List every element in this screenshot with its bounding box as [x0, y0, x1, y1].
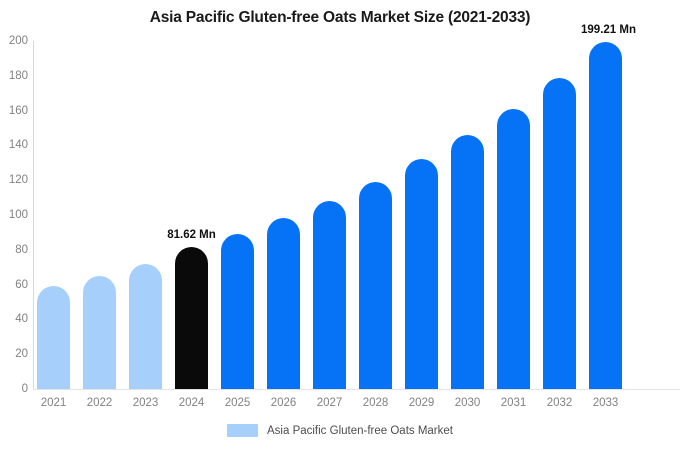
bar-2025[interactable]: [221, 234, 254, 389]
page-title: Asia Pacific Gluten-free Oats Market Siz…: [0, 9, 680, 27]
y-axis-tick-20: 20: [0, 348, 28, 360]
bar-group-2023[interactable]: [129, 41, 162, 389]
x-axis-tick-2030: 2030: [445, 397, 491, 409]
x-axis-tick-2023: 2023: [123, 397, 169, 409]
x-axis-tick-2025: 2025: [215, 397, 261, 409]
bar-2022[interactable]: [83, 276, 116, 389]
x-axis-tick-2021: 2021: [31, 397, 77, 409]
bar-group-2033[interactable]: 199.21 Mn: [589, 41, 622, 389]
legend-item-label: Asia Pacific Gluten-free Oats Market: [267, 425, 453, 437]
bar-2023[interactable]: [129, 264, 162, 389]
x-axis-tick-2032: 2032: [537, 397, 583, 409]
y-axis-tick-120: 120: [0, 174, 28, 186]
y-axis-tick-80: 80: [0, 244, 28, 256]
bar-2031[interactable]: [497, 109, 530, 389]
y-axis-tick-60: 60: [0, 279, 28, 291]
bar-group-2026[interactable]: [267, 41, 300, 389]
bar-2028[interactable]: [359, 182, 392, 389]
bar-group-2021[interactable]: [37, 41, 70, 389]
bar-2030[interactable]: [451, 135, 484, 389]
y-axis-tick-140: 140: [0, 139, 28, 151]
bar-group-2032[interactable]: [543, 41, 576, 389]
bar-value-label-2024: 81.62 Mn: [167, 229, 216, 241]
y-axis-tick-180: 180: [0, 70, 28, 82]
chart-legend: Asia Pacific Gluten-free Oats Market: [0, 424, 680, 437]
bar-2033[interactable]: [589, 42, 622, 389]
y-axis-tick-200: 200: [0, 35, 28, 47]
bar-2027[interactable]: [313, 201, 346, 389]
bar-2029[interactable]: [405, 159, 438, 389]
bar-2026[interactable]: [267, 218, 300, 389]
x-axis-tick-2027: 2027: [307, 397, 353, 409]
y-axis-tick-160: 160: [0, 105, 28, 117]
chart-container: Asia Pacific Gluten-free Oats Market Siz…: [0, 0, 680, 450]
y-axis-line: [33, 41, 34, 389]
x-axis-tick-2024: 2024: [169, 397, 215, 409]
x-axis-tick-2033: 2033: [583, 397, 629, 409]
x-axis-tick-2026: 2026: [261, 397, 307, 409]
bar-group-2027[interactable]: [313, 41, 346, 389]
bar-group-2024[interactable]: 81.62 Mn: [175, 41, 208, 389]
y-axis-tick-40: 40: [0, 313, 28, 325]
bar-group-2025[interactable]: [221, 41, 254, 389]
bar-group-2029[interactable]: [405, 41, 438, 389]
x-axis-tick-2022: 2022: [77, 397, 123, 409]
x-axis-tick-2028: 2028: [353, 397, 399, 409]
x-axis-tick-2031: 2031: [491, 397, 537, 409]
bar-value-label-2033: 199.21 Mn: [581, 24, 636, 36]
y-axis-tick-100: 100: [0, 209, 28, 221]
x-axis-tick-2029: 2029: [399, 397, 445, 409]
bar-group-2022[interactable]: [83, 41, 116, 389]
x-axis-line: [33, 389, 680, 390]
bar-group-2028[interactable]: [359, 41, 392, 389]
bar-2021[interactable]: [37, 286, 70, 389]
bar-2024[interactable]: [175, 247, 208, 389]
plot-area: 81.62 Mn199.21 Mn 2021202220232024202520…: [33, 41, 680, 389]
bar-2032[interactable]: [543, 78, 576, 389]
bar-group-2030[interactable]: [451, 41, 484, 389]
bar-group-2031[interactable]: [497, 41, 530, 389]
y-axis-tick-0: 0: [0, 383, 28, 395]
legend-color-swatch: [227, 424, 258, 437]
